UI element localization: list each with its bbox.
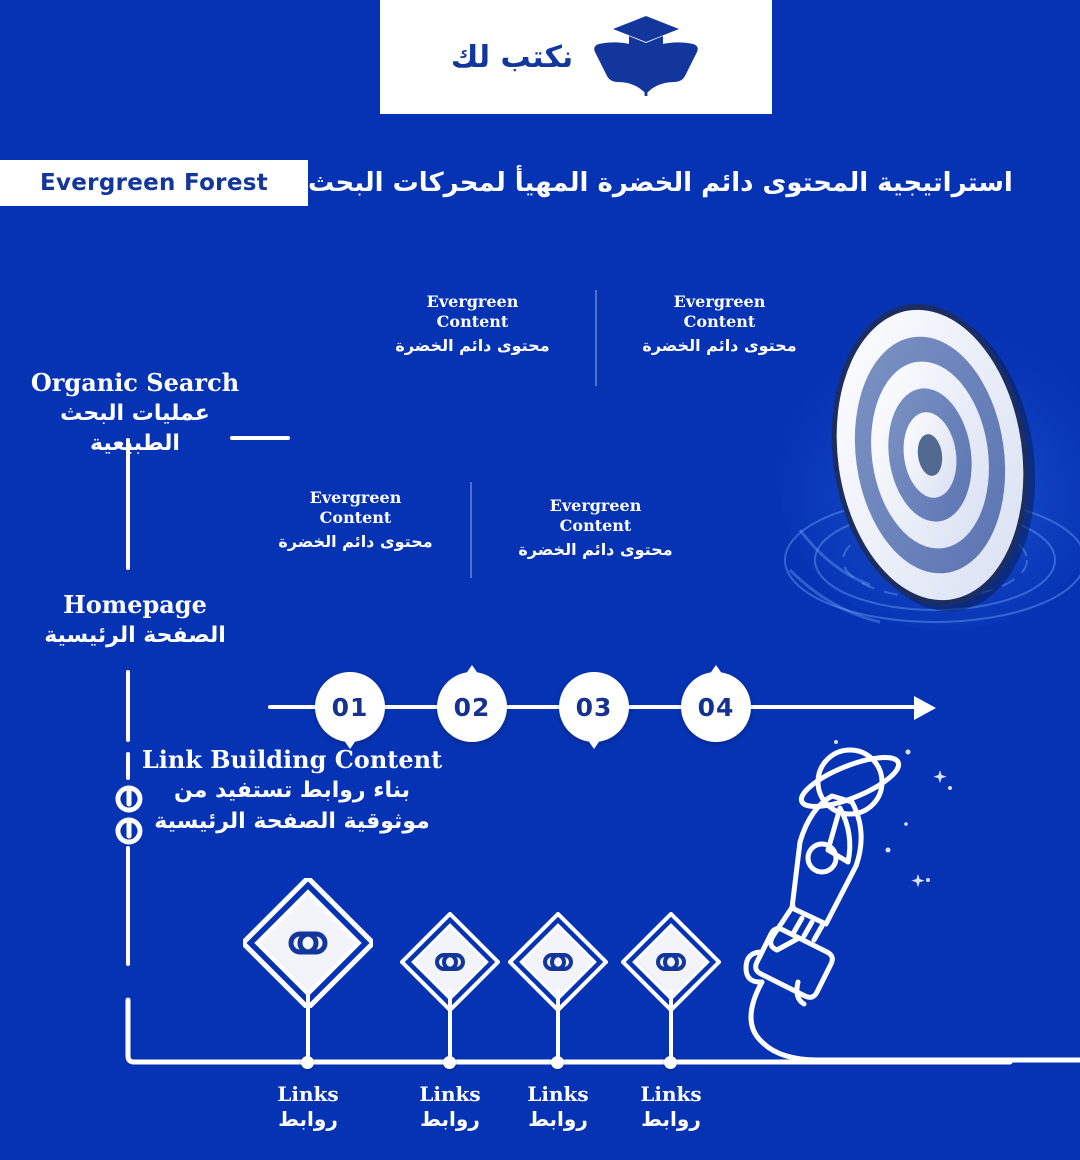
organic-search-ar-line2: الطبيعية: [10, 430, 260, 458]
link-stem-3: [556, 990, 560, 1064]
organic-search-label: Organic Search عمليات البحث الطبيعية: [10, 368, 260, 458]
link-stem-2: [448, 990, 452, 1064]
homepage-en: Homepage: [10, 590, 260, 620]
timeline-label-ar: محتوى دائم الخضرة: [385, 336, 560, 356]
link-caption-4: Links روابط: [616, 1082, 726, 1132]
timeline-node-number: 03: [576, 693, 613, 722]
timeline-label-ar: محتوى دائم الخضرة: [508, 540, 683, 560]
link-caption-ar: روابط: [395, 1107, 505, 1132]
link-caption-2: Links روابط: [395, 1082, 505, 1132]
rail-segment-3: [126, 752, 130, 780]
timeline-node-number: 04: [698, 693, 735, 722]
link-dot-4: [664, 1056, 677, 1069]
divider-top: [595, 290, 597, 386]
rail-segment-2: [126, 670, 130, 742]
link-stem-4: [669, 990, 673, 1064]
link-caption-1: Links روابط: [253, 1082, 363, 1132]
homepage-label: Homepage الصفحة الرئيسية: [10, 590, 260, 650]
bullseye-target-icon: [770, 230, 1080, 670]
homepage-ar: الصفحة الرئيسية: [10, 622, 260, 650]
link-building-ar-line2: موثوقية الصفحة الرئيسية: [132, 808, 452, 837]
divider-bottom: [470, 482, 472, 578]
organic-search-ar-line1: عمليات البحث: [10, 400, 260, 428]
link-dot-2: [443, 1056, 456, 1069]
organic-search-en: Organic Search: [10, 368, 260, 398]
link-building-ar-line1: بناء روابط تستفيد من: [132, 777, 452, 806]
link-building-en: Link Building Content: [132, 745, 452, 775]
link-caption-ar: روابط: [616, 1107, 726, 1132]
link-dot-1: [301, 1056, 314, 1069]
timeline-node-number: 02: [454, 693, 491, 722]
timeline-label-en-line2: Content: [632, 312, 807, 332]
timeline-label-02: Evergreen Content محتوى دائم الخضرة: [385, 292, 560, 356]
link-caption-en: Links: [616, 1082, 726, 1107]
graduation-cap-book-icon: [591, 14, 701, 100]
timeline-label-ar: محتوى دائم الخضرة: [632, 336, 807, 356]
timeline-label-en-line1: Evergreen: [508, 496, 683, 516]
timeline-label-04: Evergreen Content محتوى دائم الخضرة: [632, 292, 807, 356]
timeline-label-en-line2: Content: [385, 312, 560, 332]
timeline-label-en-line2: Content: [508, 516, 683, 536]
link-caption-ar: روابط: [253, 1107, 363, 1132]
timeline-label-en-line1: Evergreen: [632, 292, 807, 312]
timeline-label-03: Evergreen Content محتوى دائم الخضرة: [508, 496, 683, 560]
timeline-node-02[interactable]: 02: [437, 672, 507, 742]
link-caption-en: Links: [253, 1082, 363, 1107]
link-dot-3: [551, 1056, 564, 1069]
link-caption-3: Links روابط: [503, 1082, 613, 1132]
arrow-right-icon: [880, 688, 940, 728]
title-badge: Evergreen Forest: [0, 160, 308, 206]
saturn-planet-icon: [796, 748, 904, 817]
timeline-label-en-line1: Evergreen: [385, 292, 560, 312]
rocket-icon: [740, 730, 1080, 1090]
link-stem-1: [306, 990, 310, 1064]
timeline-node-03[interactable]: 03: [559, 672, 629, 742]
link-caption-ar: روابط: [503, 1107, 613, 1132]
page-title-arabic: استراتيجية المحتوى دائم الخضرة المهيأ لم…: [308, 160, 1080, 206]
page-title-row: Evergreen Forest استراتيجية المحتوى دائم…: [0, 160, 1080, 206]
logo-text: نكتب لك: [451, 40, 573, 75]
link-caption-en: Links: [395, 1082, 505, 1107]
link-caption-en: Links: [503, 1082, 613, 1107]
logo-bar: نكتب لك: [380, 0, 772, 114]
rail-segment-1: [126, 438, 130, 570]
link-building-label: Link Building Content بناء روابط تستفيد …: [132, 745, 452, 836]
